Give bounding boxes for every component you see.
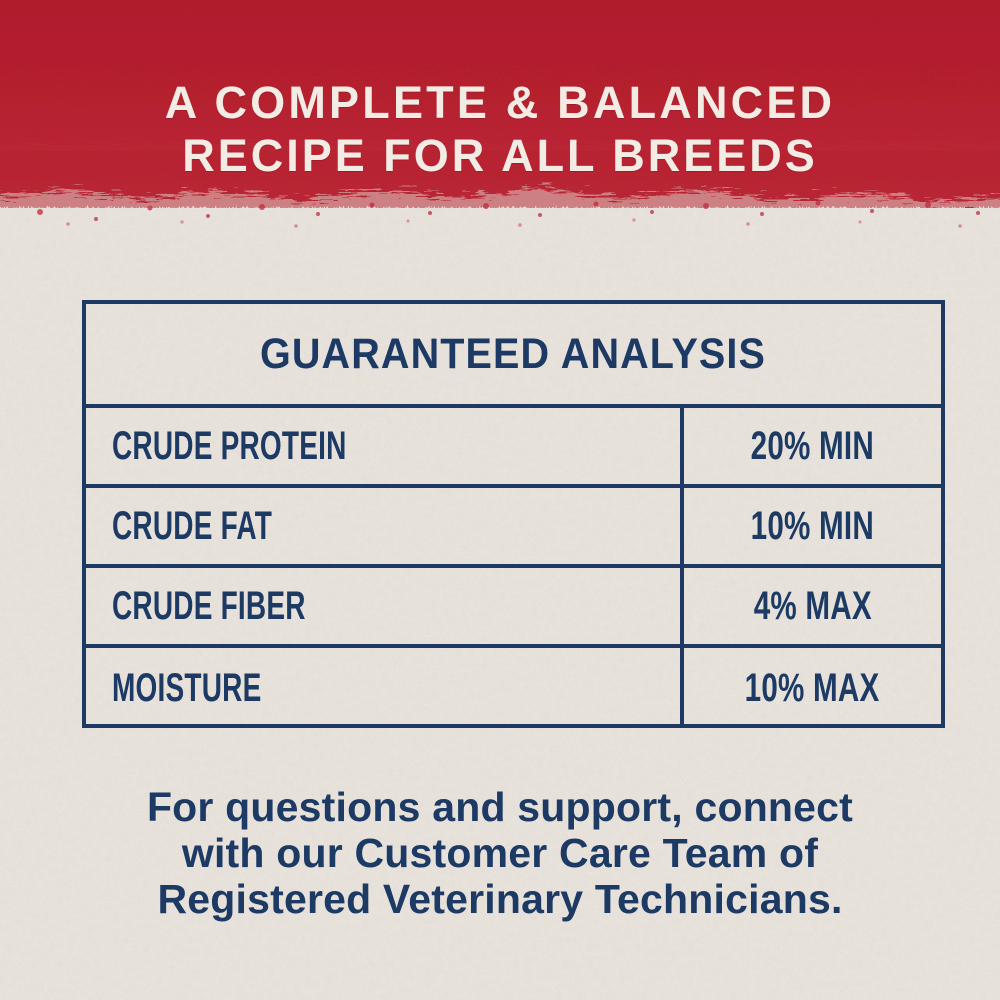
guaranteed-analysis-table: GUARANTEED ANALYSIS CRUDE PROTEIN 20% MI… (82, 300, 945, 728)
nutrient-cell: CRUDE FAT (86, 488, 684, 564)
nutrient-label: CRUDE FAT (112, 504, 272, 549)
amount-cell: 4% MAX (684, 568, 941, 644)
amount-value: 10% MAX (745, 666, 880, 711)
nutrient-label: MOISTURE (112, 666, 261, 711)
table-row: MOISTURE 10% MAX (86, 648, 941, 728)
headline-line-2: RECIPE FOR ALL BREEDS (0, 129, 1000, 182)
table-header: GUARANTEED ANALYSIS (86, 304, 941, 408)
nutrient-label: CRUDE FIBER (112, 584, 306, 629)
footer-line-3: Registered Veterinary Technicians. (60, 876, 940, 922)
red-banner: A COMPLETE & BALANCED RECIPE FOR ALL BRE… (0, 0, 1000, 232)
amount-value: 4% MAX (753, 584, 871, 629)
table-row: CRUDE FIBER 4% MAX (86, 568, 941, 648)
amount-value: 10% MIN (751, 504, 874, 549)
table-row: CRUDE PROTEIN 20% MIN (86, 408, 941, 488)
nutrient-cell: CRUDE PROTEIN (86, 408, 684, 484)
amount-value: 20% MIN (751, 424, 874, 469)
nutrient-cell: CRUDE FIBER (86, 568, 684, 644)
table-title: GUARANTEED ANALYSIS (260, 330, 766, 379)
amount-cell: 10% MAX (684, 648, 941, 728)
headline: A COMPLETE & BALANCED RECIPE FOR ALL BRE… (0, 76, 1000, 182)
amount-cell: 10% MIN (684, 488, 941, 564)
nutrient-cell: MOISTURE (86, 648, 684, 728)
amount-cell: 20% MIN (684, 408, 941, 484)
nutrient-label: CRUDE PROTEIN (112, 424, 347, 469)
footer-line-2: with our Customer Care Team of (60, 830, 940, 876)
packaging-panel: A COMPLETE & BALANCED RECIPE FOR ALL BRE… (0, 0, 1000, 1000)
headline-line-1: A COMPLETE & BALANCED (0, 76, 1000, 129)
footer-line-1: For questions and support, connect (60, 784, 940, 830)
customer-care-message: For questions and support, connect with … (60, 784, 940, 922)
table-row: CRUDE FAT 10% MIN (86, 488, 941, 568)
